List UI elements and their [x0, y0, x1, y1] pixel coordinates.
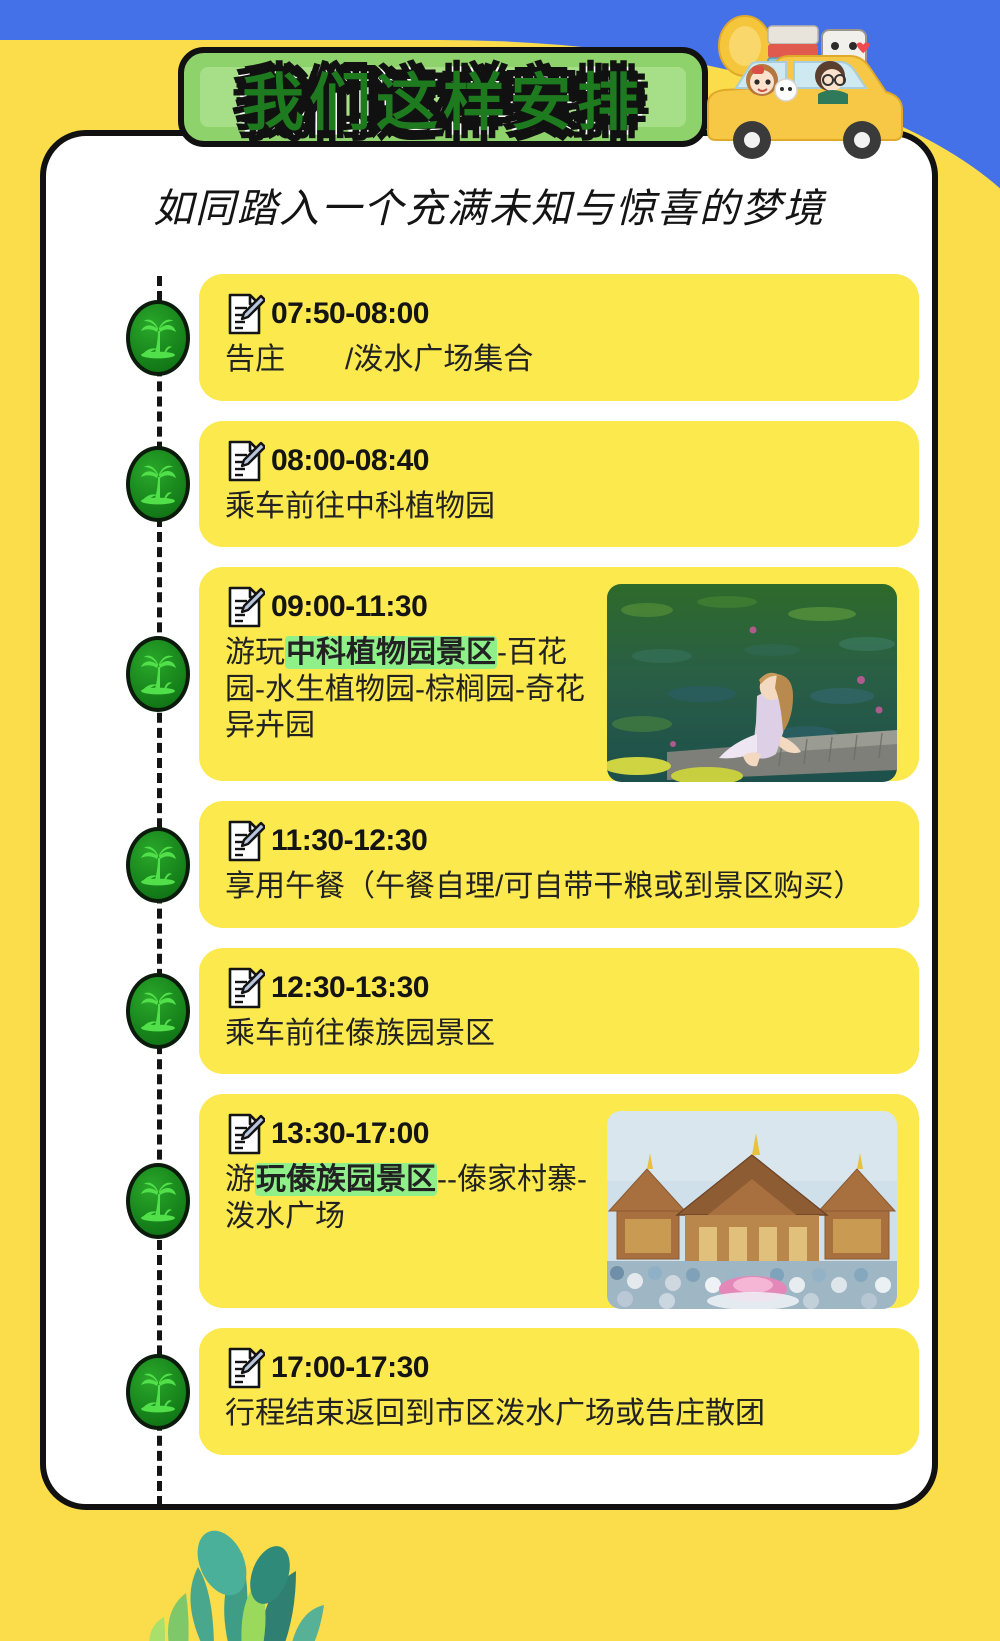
item-time: 11:30-12:30	[271, 824, 427, 858]
palm-tree-icon	[138, 317, 178, 359]
item-description: 行程结束返回到市区泼水广场或告庄散团	[225, 1396, 893, 1433]
timeline-node	[126, 1354, 190, 1430]
item-description: 乘车前往傣族园景区	[225, 1016, 893, 1053]
timeline-bubble: 13:30-17:00 游玩傣族园景区--傣家村寨-泼水广场	[199, 1094, 919, 1308]
itinerary-card: 如同踏入一个充满未知与惊喜的梦境	[40, 130, 938, 1510]
dai-village-water-splashing-square	[607, 1111, 897, 1309]
timeline-bubble: 07:50-08:00 告庄 /泼水广场集合	[199, 274, 919, 401]
page-subtitle: 如同踏入一个充满未知与惊喜的梦境	[46, 176, 932, 234]
timeline-node	[126, 636, 190, 712]
plain-text: 行程结束返回到市区泼水广场或告庄散团	[225, 1397, 765, 1430]
plain-text: 乘车前往傣族园景区	[225, 1017, 495, 1050]
note-pencil-icon	[225, 439, 265, 483]
timeline-bubble: 11:30-12:30 享用午餐（午餐自理/可自带干粮或到景区购买）	[199, 801, 919, 928]
timeline-node	[126, 1163, 190, 1239]
time-row: 12:30-13:30	[225, 966, 893, 1010]
timeline-bubble: 08:00-08:40 乘车前往中科植物园	[199, 421, 919, 548]
timeline-bubble: 09:00-11:30 游玩中科植物园景区-百花园-水生植物园-棕榈园-奇花异卉…	[199, 567, 919, 781]
time-row: 11:30-12:30	[225, 819, 893, 863]
item-description: 告庄 /泼水广场集合	[225, 342, 893, 379]
note-pencil-icon	[225, 1346, 265, 1390]
note-pencil-icon	[225, 819, 265, 863]
timeline-item-2[interactable]: 08:00-08:40 乘车前往中科植物园	[46, 421, 938, 548]
plain-text: 乘车前往中科植物园	[225, 490, 495, 523]
note-pencil-icon	[225, 966, 265, 1010]
highlighted-text: 中科植物园景区	[285, 636, 497, 669]
item-time: 12:30-13:30	[271, 971, 429, 1005]
plain-text: 游玩	[225, 636, 285, 669]
timeline-item-6[interactable]: 13:30-17:00 游玩傣族园景区--傣家村寨-泼水广场	[46, 1094, 938, 1308]
timeline-item-5[interactable]: 12:30-13:30 乘车前往傣族园景区	[46, 948, 938, 1075]
time-row: 13:30-17:00	[225, 1112, 589, 1156]
item-time: 08:00-08:40	[271, 444, 429, 478]
plain-text: 享用午餐（午餐自理/可自带干粮或到景区购买）	[225, 870, 863, 903]
time-row: 09:00-11:30	[225, 585, 589, 629]
timeline-bubble: 17:00-17:30 行程结束返回到市区泼水广场或告庄散团	[199, 1328, 919, 1455]
timeline-item-1[interactable]: 07:50-08:00 告庄 /泼水广场集合	[46, 274, 938, 401]
note-pencil-icon	[225, 292, 265, 336]
item-description: 享用午餐（午餐自理/可自带干粮或到景区购买）	[225, 869, 893, 906]
plain-text: 游	[225, 1163, 255, 1196]
timeline-node	[126, 827, 190, 903]
plain-text: 告庄 /泼水广场集合	[225, 343, 533, 376]
highlighted-text: 玩傣族园景区	[255, 1163, 437, 1196]
item-description: 游玩傣族园景区--傣家村寨-泼水广场	[225, 1162, 589, 1235]
time-row: 08:00-08:40	[225, 439, 893, 483]
timeline-node	[126, 300, 190, 376]
time-row: 17:00-17:30	[225, 1346, 893, 1390]
timeline-item-7[interactable]: 17:00-17:30 行程结束返回到市区泼水广场或告庄散团	[46, 1328, 938, 1455]
palm-tree-icon	[138, 463, 178, 505]
travel-car-illustration	[690, 4, 920, 164]
item-description: 游玩中科植物园景区-百花园-水生植物园-棕榈园-奇花异卉园	[225, 635, 589, 745]
note-pencil-icon	[225, 585, 265, 629]
item-description: 乘车前往中科植物园	[225, 489, 893, 526]
item-time: 13:30-17:00	[271, 1117, 429, 1151]
palm-tree-icon	[138, 653, 178, 695]
title-banner: 我们这样安排	[178, 47, 708, 147]
palm-tree-icon	[138, 1371, 178, 1413]
palm-tree-icon	[138, 844, 178, 886]
timeline-item-4[interactable]: 11:30-12:30 享用午餐（午餐自理/可自带干粮或到景区购买）	[46, 801, 938, 928]
palm-tree-icon	[138, 1180, 178, 1222]
timeline-item-3[interactable]: 09:00-11:30 游玩中科植物园景区-百花园-水生植物园-棕榈园-奇花异卉…	[46, 567, 938, 781]
tropical-leaves-decoration	[110, 1471, 440, 1641]
timeline-bubble: 12:30-13:30 乘车前往傣族园景区	[199, 948, 919, 1075]
item-time: 09:00-11:30	[271, 590, 427, 624]
woman-sitting-on-lily-pond-dock	[607, 584, 897, 782]
time-row: 07:50-08:00	[225, 292, 893, 336]
item-time: 07:50-08:00	[271, 297, 429, 331]
palm-tree-icon	[138, 990, 178, 1032]
page-title: 我们这样安排	[184, 52, 702, 142]
timeline-node	[126, 973, 190, 1049]
timeline-node	[126, 446, 190, 522]
timeline-items: 07:50-08:00 告庄 /泼水广场集合	[46, 274, 938, 1475]
note-pencil-icon	[225, 1112, 265, 1156]
item-time: 17:00-17:30	[271, 1351, 429, 1385]
